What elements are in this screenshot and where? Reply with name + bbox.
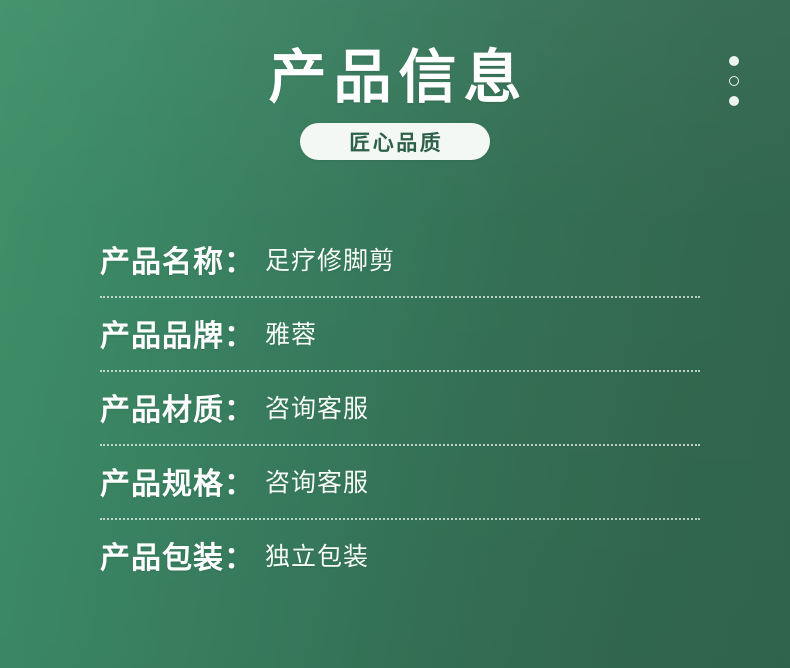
dot-hollow-middle-icon [729, 76, 739, 86]
spec-label: 产品品牌： [100, 311, 255, 355]
spec-row-product-material: 产品材质： 咨询客服 [100, 370, 700, 444]
spec-row-product-brand: 产品品牌： 雅蓉 [100, 296, 700, 370]
spec-value: 足疗修脚剪 [265, 241, 395, 277]
product-spec-list: 产品名称： 足疗修脚剪 产品品牌： 雅蓉 产品材质： 咨询客服 产品规格： 咨询… [100, 222, 700, 592]
spec-label: 产品材质： [100, 385, 255, 429]
page-title: 产品信息 [0, 0, 790, 111]
more-options-menu[interactable] [725, 56, 743, 106]
product-info-banner: 产品信息 匠心品质 产品名称： 足疗修脚剪 产品品牌： 雅蓉 产品材质： 咨询客… [0, 0, 790, 668]
banner-header: 产品信息 匠心品质 [0, 0, 790, 160]
spec-row-product-name: 产品名称： 足疗修脚剪 [100, 222, 700, 296]
spec-value: 咨询客服 [265, 389, 369, 425]
dot-filled-top-icon [729, 56, 739, 66]
spec-value: 雅蓉 [265, 315, 317, 351]
quality-badge: 匠心品质 [300, 123, 490, 160]
spec-label: 产品名称： [100, 237, 255, 281]
spec-row-product-packaging: 产品包装： 独立包装 [100, 518, 700, 592]
spec-row-product-spec: 产品规格： 咨询客服 [100, 444, 700, 518]
spec-label: 产品包装： [100, 533, 255, 577]
spec-label: 产品规格： [100, 459, 255, 503]
dot-filled-bottom-icon [729, 96, 739, 106]
spec-value: 独立包装 [265, 537, 369, 573]
badge-container: 匠心品质 [0, 123, 790, 160]
spec-value: 咨询客服 [265, 463, 369, 499]
